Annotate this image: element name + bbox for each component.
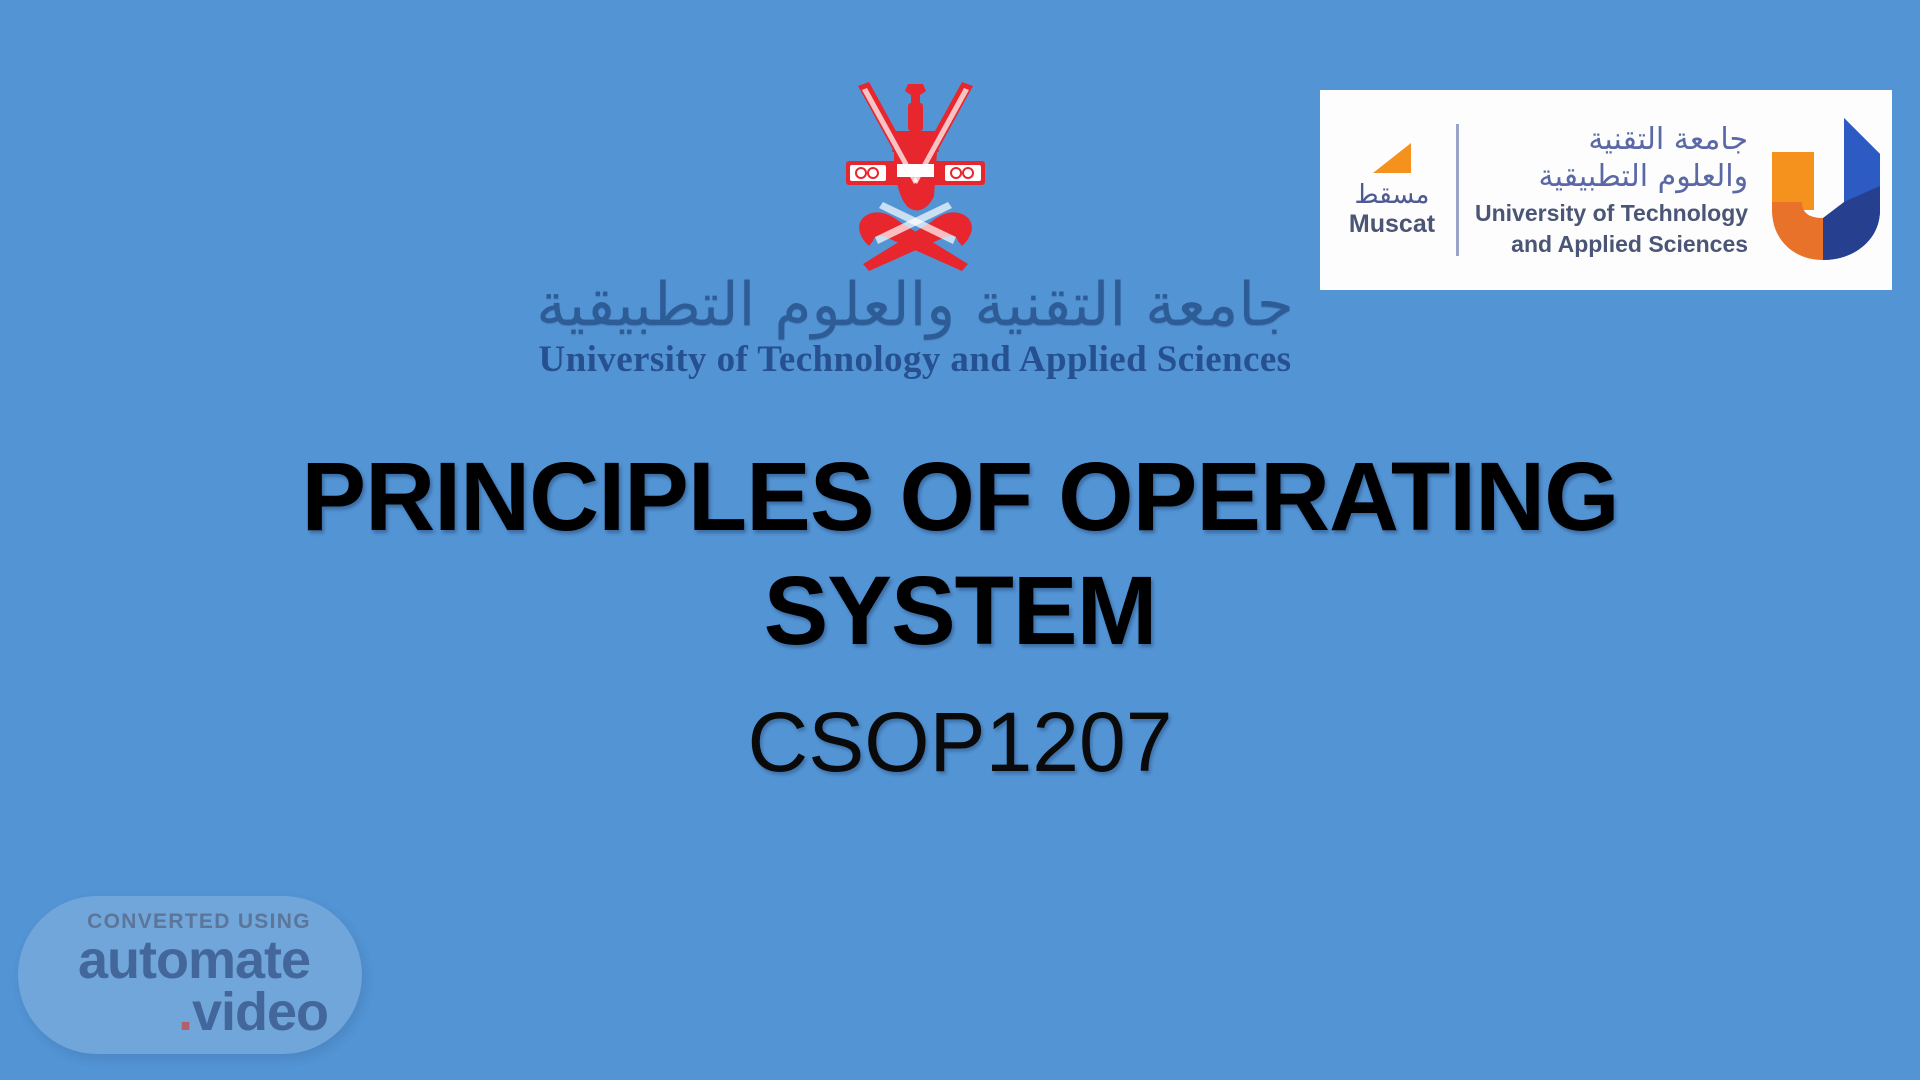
- course-code: CSOP1207: [150, 700, 1770, 784]
- slide-title-line-1: PRINCIPLES OF OPERATING: [150, 440, 1770, 554]
- watermark-dot: .: [178, 982, 192, 1042]
- watermark-domain: .video: [54, 987, 334, 1039]
- crest-arabic-name: جامعة التقنية والعلوم التطبيقية: [536, 275, 1294, 335]
- slide-title: PRINCIPLES OF OPERATING SYSTEM: [150, 440, 1770, 669]
- campus-arabic-label: مسقط: [1355, 181, 1430, 211]
- logo-divider: [1456, 124, 1459, 256]
- watermark-domain-text: video: [192, 982, 328, 1042]
- oman-national-emblem-khanjar-icon: [828, 78, 1003, 273]
- crest-english-name: University of Technology and Applied Sci…: [539, 341, 1292, 378]
- university-crest: جامعة التقنية والعلوم التطبيقية Universi…: [480, 78, 1350, 408]
- campus-block: مسقط Muscat: [1338, 141, 1446, 238]
- logo-english-line-2: and Applied Sciences: [1511, 230, 1748, 258]
- campus-english-label: Muscat: [1349, 211, 1435, 239]
- logo-wordmark: جامعة التقنية والعلوم التطبيقية Universi…: [1475, 122, 1756, 257]
- automate-video-watermark: CONVERTED USING automate .video: [18, 896, 362, 1054]
- utas-logo-box: مسقط Muscat جامعة التقنية والعلوم التطبي…: [1320, 90, 1892, 290]
- slide-title-line-2: SYSTEM: [150, 554, 1770, 668]
- presentation-slide: جامعة التقنية والعلوم التطبيقية Universi…: [0, 0, 1920, 1080]
- utas-u-mark-icon: [1762, 114, 1884, 266]
- orange-wedge-icon: [1371, 141, 1413, 175]
- logo-arabic-line-2: والعلوم التطبيقية: [1539, 159, 1749, 196]
- watermark-brand: automate: [54, 935, 334, 987]
- watermark-kicker: CONVERTED USING: [54, 910, 334, 934]
- logo-english-line-1: University of Technology: [1475, 199, 1748, 227]
- logo-arabic-line-1: جامعة التقنية: [1588, 122, 1748, 159]
